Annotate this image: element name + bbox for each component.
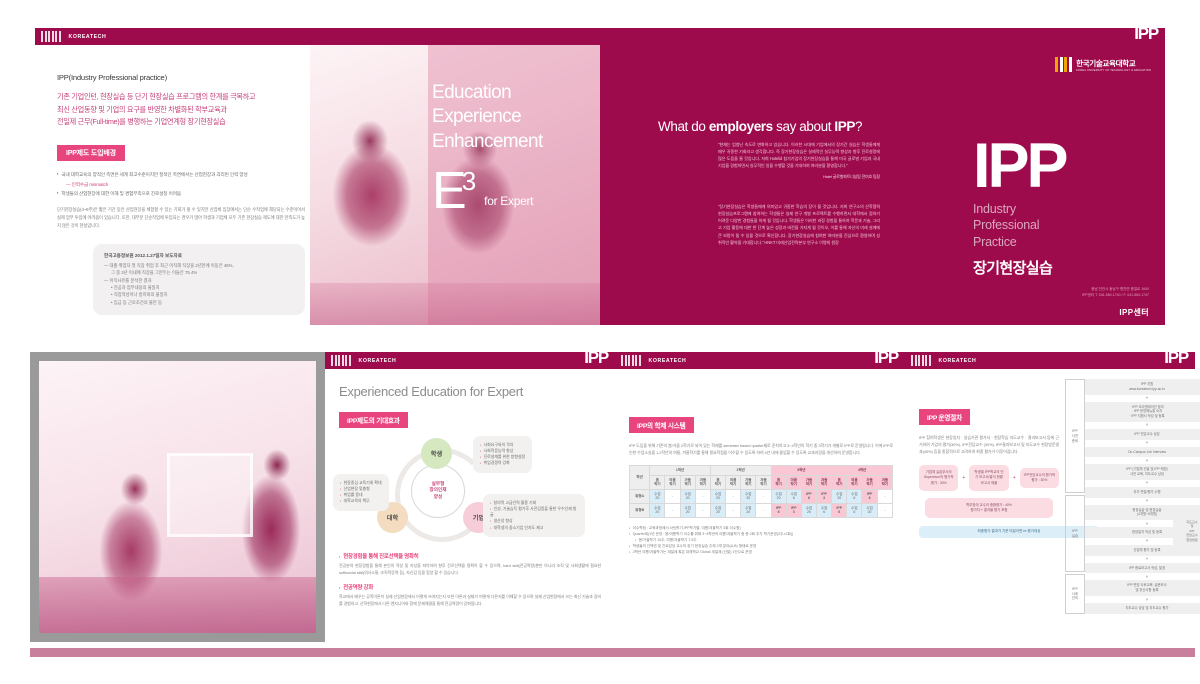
bubble-student-benefits: 사회요구와의 격차 사회적응능력 향상 진로설계를 위한 방향설정 취업경쟁력 …: [473, 436, 532, 473]
top-brochure-spread: KOREATECH IPP IPP(Industry Professional …: [35, 28, 1165, 325]
col-term: 가을 학기: [862, 475, 877, 489]
flow-arrow-icon: ▼: [1145, 522, 1149, 526]
semester-table: 학년 1학년 2학년 3학년 4학년 봄 학기여름 학기가을 학기겨울 학기봄 …: [629, 465, 893, 518]
bubble-item: 인성, 기술습득 평가후 사전검증을 통한 우수인재 발굴: [490, 506, 578, 519]
flow-step-box: IPP 전담교수 상담: [1085, 429, 1200, 440]
koreatech-mark-icon: [1055, 57, 1072, 72]
flow-arrow-icon: ▼: [1145, 423, 1149, 427]
table-cell: -: [756, 489, 771, 503]
content-panels: KOREATECH IPP Experienced Education for …: [325, 352, 1195, 614]
table-row-years: 학년 1학년 2학년 3학년 4학년: [630, 466, 893, 476]
photo-desk-shadow: [310, 283, 600, 325]
koreatech-wordmark: KOREATECH: [69, 34, 107, 40]
section-tag-background: IPP제도 도입배경: [57, 145, 125, 162]
table-cell: 수업 20: [741, 489, 756, 503]
flow-arrow-icon: ▼: [1145, 499, 1149, 503]
process-flowchart: IPP 사전 준비IPP 실습IPP 사후 관리IPP 지원 www.korea…: [1065, 379, 1200, 614]
ipp-wordmark: IPP: [584, 349, 608, 366]
intro-paragraph: 단기현장실습(4~8주)은 짧은 기간 동안 산업현장을 체험할 수 있는 기회…: [57, 206, 305, 230]
table-cell: -: [877, 489, 892, 503]
quote-1-text: "현재는 엄청난 속도로 변화하고 있습니다. 이러한 시대에 기업에서의 장기…: [718, 142, 880, 168]
ipp-center-label: IPP센터: [1119, 307, 1149, 318]
ipp-sub-practice: Practice: [973, 234, 1149, 251]
flow-aux-box: 지도교수 및 IPP 전담교수 현장방문: [1173, 517, 1200, 545]
for-expert-label: for Expert: [484, 194, 533, 208]
panel3-header-bar: KOREATECH IPP: [905, 352, 1195, 369]
cover-title-block: Education Experience Enhancement E 3 for…: [432, 81, 590, 212]
plus-icon: +: [1013, 475, 1016, 481]
col-term: 봄 학기: [650, 475, 665, 489]
bubble-item: 현장중심 교육기회 확대: [340, 480, 382, 486]
col-term: 겨울 학기: [877, 475, 892, 489]
flow-phase-label: IPP 실습: [1065, 495, 1085, 572]
table-cell: 수업 20: [801, 503, 816, 517]
col-year-4: 4학년: [832, 466, 893, 476]
table-cell: 수업 20: [862, 503, 877, 517]
panel2-footnotes: 이수학점 : 교육과정에서 4년(학기,IPP학기별, 여름/겨울학기 3회 이…: [629, 525, 893, 556]
meeting-photo-panel: [30, 352, 325, 642]
flow-step-box: · IPP 오리엔테이션 참여 · IPP 운영매뉴얼 숙지 · IPP 지원서…: [1085, 402, 1200, 422]
photo-whiteboard: [167, 453, 253, 537]
university-logo: 한국기술교육대학교 KOREA UNIVERSITY OF TECHNOLOGY…: [1055, 57, 1151, 72]
stripes-icon: [41, 31, 61, 42]
headline-mid: say about: [773, 119, 835, 134]
table-cell: -: [665, 503, 680, 517]
flow-arrow-icon: ▼: [1145, 575, 1149, 579]
col-term: 가을 학기: [680, 475, 695, 489]
node-student: 학생: [421, 438, 452, 469]
table-cell: IPP 3: [786, 503, 801, 517]
quote-card-subitem: • 임금 등 근로조건의 불만 등: [111, 299, 294, 306]
flow-step-box: IPP (기업체 선발 및 IPP 매칭) 사전 교육, 지도교수 상담: [1085, 464, 1200, 480]
top-panels: IPP(Industry Professional practice) 기존 기…: [35, 45, 1165, 325]
col-term: 가을 학기: [741, 475, 756, 489]
e3-exponent: 3: [462, 168, 476, 194]
photo-table: [39, 577, 316, 633]
operation-process-panel: KOREATECH IPP IPP 운영절차 IPP 참여학생은 현장일지 · …: [905, 352, 1195, 614]
headline-ipp: IPP: [834, 119, 855, 134]
quote-card-line: — 대졸 취업자 첫 직장 취업 후 최근 이직해 직장을 2년만에 이동은 4…: [104, 262, 294, 269]
list-item-sub: — 인력수급 mismatch: [66, 181, 302, 188]
flow-arrow-icon: ▼: [1145, 539, 1149, 543]
table-corner: 학년: [630, 466, 650, 490]
footnote-item: 2학년 여름/겨울학기는 계절제 혹은 대체학교 Global 계절제 (선발)…: [629, 549, 893, 555]
ipp-wordmark: IPP: [1134, 25, 1158, 42]
bottom-brochure-spread: KOREATECH IPP Experienced Education for …: [30, 352, 1195, 650]
table-cell: IPP 6: [862, 489, 877, 503]
table-row: 유형B수업 20-수업 20-수업 20-수업 20-IPP 6IPP 3수업 …: [630, 503, 893, 517]
flow-phase-labels: IPP 사전 준비IPP 실습IPP 사후 관리: [1065, 379, 1085, 614]
stripes-icon: [911, 355, 931, 366]
flow-step-box: 추가 면접/평가 수행: [1085, 487, 1200, 498]
row-label: 유형B: [630, 503, 650, 517]
table-cell: 수업 20: [710, 503, 725, 517]
flow-arrow-icon: ▼: [1145, 459, 1149, 463]
evaluation-flow: 기업체 실습부서의 Supervisor의 평가적 평가 : 30% + 학생별…: [919, 465, 1059, 538]
flow-step-box: 산업체 평가 및 등록: [1085, 545, 1200, 556]
table-cell: -: [695, 489, 710, 503]
table-cell: 수업 20: [650, 503, 665, 517]
cycle-center: 실무형 창의인재 양성: [411, 464, 465, 518]
col-term: 겨울 학기: [817, 475, 832, 489]
plus-icon: +: [962, 475, 965, 481]
panel3-columns: IPP 운영절차 IPP 참여학생은 현장일지 · 실습기관 평가서 · 현장학…: [905, 369, 1195, 614]
flow-arrow-icon: ▼: [1145, 441, 1149, 445]
flow-phase-label: IPP 사후 관리: [1065, 574, 1085, 613]
flow-arrow-icon: ▼: [1145, 557, 1149, 561]
employer-quote-2: "장기현장실습은 학생들에게 의미있고 귀중한 학습의 장이 될 것입니다. 저…: [718, 203, 880, 246]
table-row-terms: 봄 학기여름 학기가을 학기겨울 학기봄 학기여름 학기가을 학기겨울 학기봄 …: [630, 475, 893, 489]
academic-system-panel: KOREATECH IPP IPP의 학제 시스템 IPP 도입을 위해 기존의…: [615, 352, 905, 614]
table-cell: 수업 6: [817, 503, 832, 517]
quote-card-line: — 이직사유를 분석한 결과: [104, 277, 294, 284]
section-tag-effects: IPP제도의 기대효과: [339, 412, 408, 428]
table-cell: 수업 20: [650, 489, 665, 503]
quote-card-subitem: • 직업적성이나 흥미와의 불일치: [111, 291, 294, 298]
section-tag-academic: IPP의 학제 시스템: [629, 417, 694, 433]
col-term: 가을 학기: [801, 475, 816, 489]
table-cell: IPP 6: [801, 489, 816, 503]
flow-phase-label: IPP 사전 준비: [1065, 379, 1085, 493]
koreatech-wordmark: KOREATECH: [649, 358, 687, 364]
panel2-header-bar: KOREATECH IPP: [615, 352, 905, 369]
address-line-2: IPP센터 T. 041-560-1740 / F. 041-560-1747: [1082, 293, 1149, 299]
ipp-korean-title: 장기현장실습: [973, 257, 1149, 278]
ipp-wordmark: IPP: [1164, 349, 1188, 366]
quote-card-title: 한국고용정보원 2012.1.27일자 보도자료: [104, 253, 294, 259]
col-term: 여름 학기: [847, 475, 862, 489]
cover-line-2: Experience: [432, 105, 590, 129]
ipp-hero-block: IPP Industry Professional Practice 장기현장실…: [973, 141, 1149, 278]
table-cell: -: [726, 489, 741, 503]
panel1-heading: Experienced Education for Expert: [339, 384, 615, 399]
panel1-header-bar: KOREATECH IPP: [325, 352, 615, 369]
table-cell: -: [726, 503, 741, 517]
table-cell: 수업 20: [710, 489, 725, 503]
quote-card-line: 그 중 3년 이내에 직장을 그만두는 이들은 75.4%: [111, 269, 294, 276]
flow-step-box: IPP 지원 www.koreatech.ipp.ac.kr: [1085, 379, 1200, 395]
stakeholder-cycle-diagram: 실무형 창의인재 양성 학생 대학 기업 사회요구와의 격차 사회적응능력 향상…: [333, 436, 605, 544]
table-cell: -: [877, 503, 892, 517]
employer-quote-1: "현재는 엄청난 속도로 변화하고 있습니다. 이러한 시대에 기업에서의 장기…: [718, 141, 880, 180]
flow-step-box: IPP 종료보고서 작성, 발표: [1085, 563, 1200, 574]
flow-step-box: IPP 면담 사후교육, 설문조사 및 취산사항 등록: [1085, 580, 1200, 596]
table-cell: IPP 3: [817, 489, 832, 503]
quote-1-signature: Hotel 글로벌파트너십팀 전미호 팀장: [718, 174, 880, 181]
intro-body: 기존 기업인턴, 현장실습 등 단기 현장실습 프로그램의 한계를 극복하고 최…: [57, 91, 297, 129]
table-row: 유형A수업 20-수업 20-수업 20-수업 20-수업 20수업 6IPP …: [630, 489, 893, 503]
flow-step-box: On-Campus Job Interview: [1085, 447, 1200, 458]
bottom-footer-strip: [30, 648, 1195, 657]
bubble-university-benefits: 현장중심 교육기회 확대 산업현장 맞춤형 취업률 증대 대학교육의 책무: [333, 474, 389, 511]
cover-line-1: Education: [432, 81, 590, 105]
intro-bullets: ▪국내 대학교육의 양적인 측면은 세계 최고수준이지만 질적인 측면에서는 산…: [57, 171, 302, 197]
quote-2-text: "장기현장실습은 학생들에게 의미있고 귀중한 학습의 장이 될 것입니다. 저…: [718, 204, 880, 245]
flow-steps: IPP 지원 www.koreatech.ipp.ac.kr▼· IPP 오리엔…: [1085, 379, 1200, 614]
col-term: 봄 학기: [832, 475, 847, 489]
row-label: 유형A: [630, 489, 650, 503]
duotone-meeting-photo: [39, 361, 316, 633]
table-cell: 수업 6: [847, 503, 862, 517]
table-cell: 수업 20: [771, 489, 786, 503]
report-quote-card: 한국고용정보원 2012.1.27일자 보도자료 — 대졸 취업자 첫 직장 취…: [93, 244, 305, 315]
ipp-sub-industry: Industry: [973, 201, 1149, 218]
col-term: 여름 학기: [786, 475, 801, 489]
employers-headline: What do employers say about IPP?: [658, 119, 862, 134]
col-term: 여름 학기: [726, 475, 741, 489]
table-cell: -: [665, 489, 680, 503]
col-term: 봄 학기: [710, 475, 725, 489]
cover-photo-page: Education Experience Enhancement E 3 for…: [310, 45, 600, 325]
panel3-left-column: IPP 운영절차 IPP 참여학생은 현장일지 · 실습기관 평가서 · 현장학…: [905, 369, 1059, 614]
headline-end: ?: [855, 119, 862, 134]
koreatech-wordmark: KOREATECH: [359, 358, 397, 364]
col-term: 겨울 학기: [756, 475, 771, 489]
list-item: ▪국내 대학교육의 양적인 측면은 세계 최고수준이지만 질적인 측면에서는 산…: [57, 171, 302, 178]
e3-mark: E 3 for Expert: [432, 168, 590, 212]
list-item: ▪학생들의 산업현장에 대한 이해 및 경험부족으로 진로설정 어려움: [57, 190, 302, 197]
panel3-flowchart-column: IPP 사전 준비IPP 실습IPP 사후 관리IPP 지원 www.korea…: [1059, 369, 1200, 614]
col-year-1: 1학년: [650, 466, 711, 476]
eval-box-report: 학생별 IPP학교의 단기 보고서/출석 현황 보고서 제출: [969, 465, 1008, 490]
headline-employers: employers: [709, 119, 773, 134]
e3-letter: E: [432, 171, 465, 212]
table-cell: IPP 6: [771, 503, 786, 517]
col-year-3: 3학년: [771, 466, 832, 476]
cover-line-3: Enhancement: [432, 130, 590, 154]
note-text: 전공분야 현장경험을 통해 본인의 적성 및 지성을 파악하여 향후 진로선택을…: [339, 562, 601, 576]
expected-effects-panel: KOREATECH IPP Experienced Education for …: [325, 352, 615, 614]
bubble-company-benefits: 창의적 고급인력 활용 기회 인성, 기술습득 평가후 사전검증을 통한 우수인…: [483, 494, 585, 538]
cycle-center-label: 실무형 창의인재 양성: [430, 481, 447, 501]
quote-2-signature: HNKT 미래산업전략본부 연구소 이명희 원장: [764, 240, 838, 245]
col-term: 여름 학기: [665, 475, 680, 489]
bubble-item: 대학교육의 책무: [340, 498, 382, 504]
panel1-notes: 현장경험을 통해 진로선택을 명확히 전공분야 현장경험을 통해 본인의 적성 …: [339, 552, 601, 608]
bubble-item: 대학생의 중소기업 인지도 제고: [490, 525, 578, 531]
table-cell: 수업 20: [680, 489, 695, 503]
col-term: 겨울 학기: [695, 475, 710, 489]
stripes-icon: [331, 355, 351, 366]
top-header-bar: KOREATECH IPP: [35, 28, 1165, 45]
col-term: 봄 학기: [771, 475, 786, 489]
intro-page: IPP(Industry Professional practice) 기존 기…: [35, 45, 310, 325]
note-heading: 현장경험을 통해 진로선택을 명확히: [339, 552, 601, 560]
logo-english-name: KOREA UNIVERSITY OF TECHNOLOGY & EDUCATI…: [1076, 69, 1151, 72]
flow-step-box: 지도교수 상담 및 지도교수 평가: [1085, 603, 1200, 614]
ipp-sub-professional: Professional: [973, 217, 1149, 234]
intro-title: IPP(Industry Professional practice): [57, 73, 310, 82]
quote-card-subitem: • 전공과 업무내용의 불일치: [111, 284, 294, 291]
eval-box-final: 학부장의 교수의 종합평가 : 40% 평가자 + 결과물 평가 포함: [925, 498, 1053, 518]
flow-arrow-icon: ▼: [1145, 598, 1149, 602]
table-cell: 수업 20: [680, 503, 695, 517]
employers-page: 한국기술교육대학교 KOREA UNIVERSITY OF TECHNOLOGY…: [600, 45, 1165, 325]
section-tag-operation: IPP 운영절차: [919, 409, 970, 425]
table-cell: IPP 6: [832, 503, 847, 517]
table-cell: -: [756, 503, 771, 517]
ipp-hero-title: IPP: [973, 141, 1149, 193]
eval-box-company: 기업체 실습부서의 Supervisor의 평가적 평가 : 30%: [919, 465, 958, 490]
panel3-paragraph: IPP 참여학생은 현장일지 · 실습기관 평가서 · 현장학습 지도교수 · …: [919, 434, 1059, 456]
panel2-paragraph: IPP 도입을 위해 기존의 봄/가을 2학기로 되어 있는 학제를 semes…: [629, 442, 893, 457]
table-cell: 수업 20: [741, 503, 756, 517]
bottom-panels: KOREATECH IPP Experienced Education for …: [30, 352, 1195, 642]
table-cell: 수업 6: [786, 489, 801, 503]
table-cell: 수업 20: [832, 489, 847, 503]
table-cell: -: [695, 503, 710, 517]
note-text: 학교에서 배우는 공학이론이 실제 산업현장에서 어떻게 쓰여지는지 또한 이론…: [339, 593, 601, 607]
logo-korean-name: 한국기술교육대학교: [1076, 58, 1151, 69]
note-heading: 전공역량 강화: [339, 583, 601, 591]
bubble-item: 취업경쟁력 강화: [480, 460, 525, 466]
col-year-2: 2학년: [710, 466, 771, 476]
brochure-canvas: KOREATECH IPP IPP(Industry Professional …: [0, 0, 1200, 684]
headline-pre: What do: [658, 119, 709, 134]
koreatech-wordmark: KOREATECH: [939, 358, 977, 364]
table-cell: 수업 6: [847, 489, 862, 503]
flow-arrow-icon: ▼: [1145, 396, 1149, 400]
eval-box-professor: IPP전담교수의 평가적 평가 : 30%: [1020, 468, 1059, 488]
evaluation-top-row: 기업체 실습부서의 Supervisor의 평가적 평가 : 30% + 학생별…: [919, 465, 1059, 490]
contact-address: 충남 천안시 동남구 병천면 충절로 1600 IPP센터 T. 041-560…: [1082, 287, 1149, 299]
stripes-icon: [621, 355, 641, 366]
ipp-wordmark: IPP: [874, 349, 898, 366]
flow-arrow-icon: ▼: [1145, 481, 1149, 485]
ipp-hero-subtitle: Industry Professional Practice: [973, 201, 1149, 251]
